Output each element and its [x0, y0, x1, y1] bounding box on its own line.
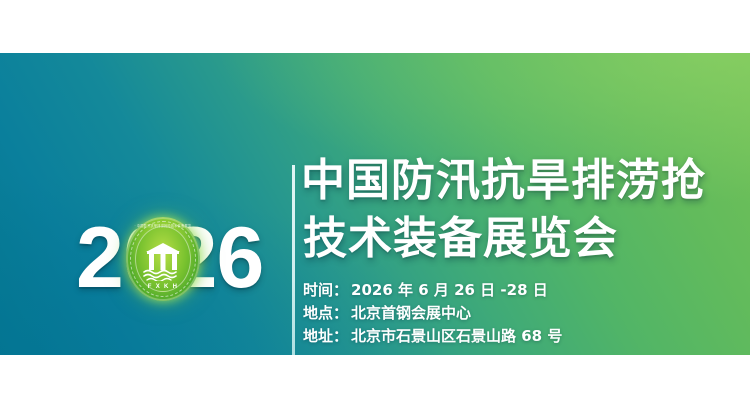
- year-logo-group: 2026 · 中国防汛抗旱排涝抢险技术装备展览会 ·: [76, 208, 286, 308]
- gate-icon: [146, 243, 180, 270]
- detail-label-date: 时间：: [303, 281, 348, 299]
- gate-middle-column-icon: [161, 254, 166, 270]
- detail-row-address: 地址：北京市石景山区石景山路 68 号: [303, 325, 750, 348]
- gate-right-column-icon: [172, 254, 177, 270]
- exhibition-emblem-logo: · 中国防汛抗旱排涝抢险技术装备展览会 · F X K H: [126, 217, 200, 301]
- detail-label-venue: 地点：: [303, 304, 348, 322]
- emblem-monogram: F X K H: [126, 284, 200, 290]
- event-details-list: 时间：2026 年 6 月 26 日 -28 日 地点：北京首钢会展中心 地址：…: [303, 279, 750, 348]
- headline-line-2: 技术装备展览会: [303, 211, 750, 267]
- detail-value-address: 北京市石景山区石景山路 68 号: [351, 327, 562, 345]
- banner-stage: 2026 · 中国防汛抗旱排涝抢险技术装备展览会 ·: [0, 0, 750, 410]
- detail-value-venue: 北京首钢会展中心: [351, 304, 471, 322]
- banner-text-group: 中国防汛抗旱排涝抢 技术装备展览会 时间：2026 年 6 月 26 日 -28…: [303, 153, 750, 348]
- detail-row-venue: 地点：北京首钢会展中心: [303, 302, 750, 325]
- gate-left-column-icon: [149, 254, 154, 270]
- detail-value-date: 2026 年 6 月 26 日 -28 日: [351, 281, 548, 299]
- detail-row-date: 时间：2026 年 6 月 26 日 -28 日: [303, 279, 750, 302]
- headline-line-1: 中国防汛抗旱排涝抢: [301, 153, 750, 209]
- detail-label-address: 地址：: [303, 327, 348, 345]
- event-banner: 2026 · 中国防汛抗旱排涝抢险技术装备展览会 ·: [0, 53, 750, 355]
- vertical-divider: [292, 165, 295, 355]
- water-waves-icon: [143, 269, 183, 281]
